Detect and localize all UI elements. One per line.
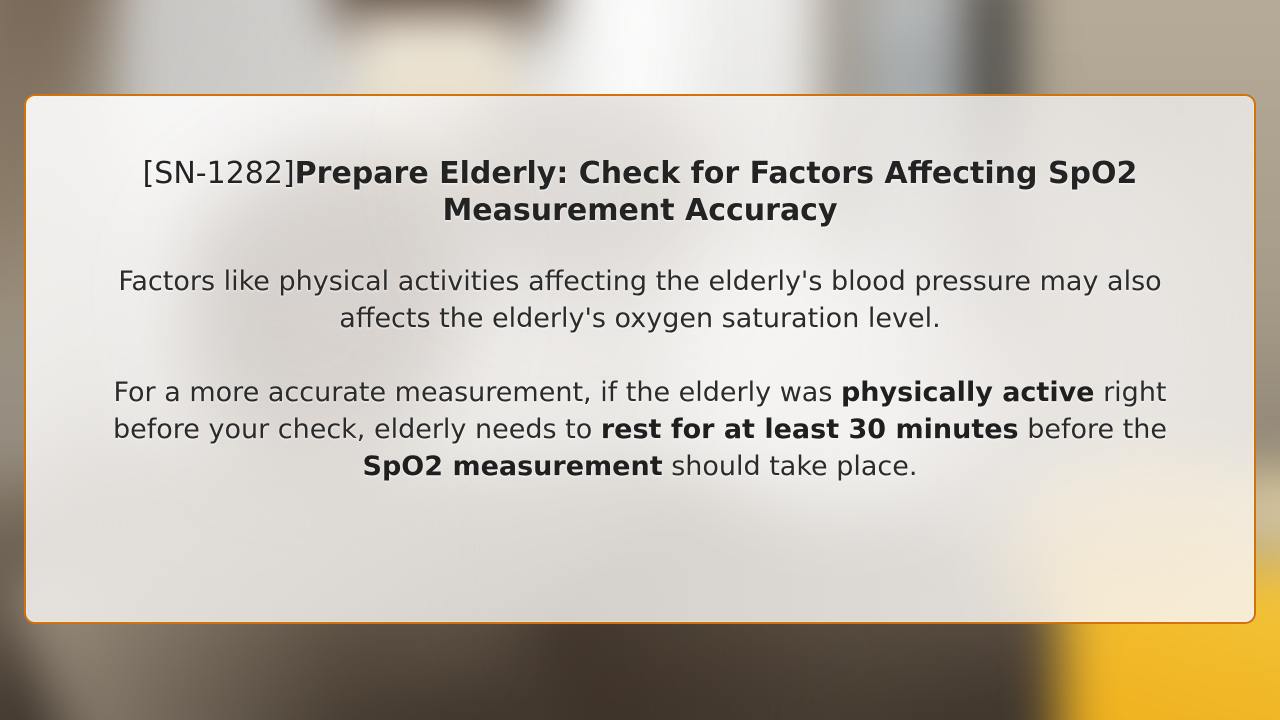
dialog-title-text: Prepare Elderly: Check for Factors Affec… (295, 156, 1138, 228)
paragraph-2-emphasis-physically-active: physically active (841, 377, 1095, 408)
paragraph-2-part-1: For a more accurate measurement, if the … (113, 377, 841, 408)
paragraph-2-part-3: before the (1019, 414, 1167, 445)
dialog-content: [SN-1282]Prepare Elderly: Check for Fact… (26, 96, 1254, 485)
dialog-paragraph-1: Factors like physical activities affecti… (86, 263, 1194, 337)
dialog-title-prefix: [SN-1282] (143, 156, 295, 191)
panel-blur-blotch (1006, 466, 1256, 624)
paragraph-2-emphasis-spo2-measurement: SpO2 measurement (363, 451, 663, 482)
dialog-paragraph-2: For a more accurate measurement, if the … (86, 374, 1194, 485)
instruction-dialog: [SN-1282]Prepare Elderly: Check for Fact… (24, 94, 1256, 624)
paragraph-2-part-4: should take place. (663, 451, 918, 482)
paragraph-2-emphasis-rest-duration: rest for at least 30 minutes (601, 414, 1019, 445)
dialog-title: [SN-1282]Prepare Elderly: Check for Fact… (86, 96, 1194, 229)
